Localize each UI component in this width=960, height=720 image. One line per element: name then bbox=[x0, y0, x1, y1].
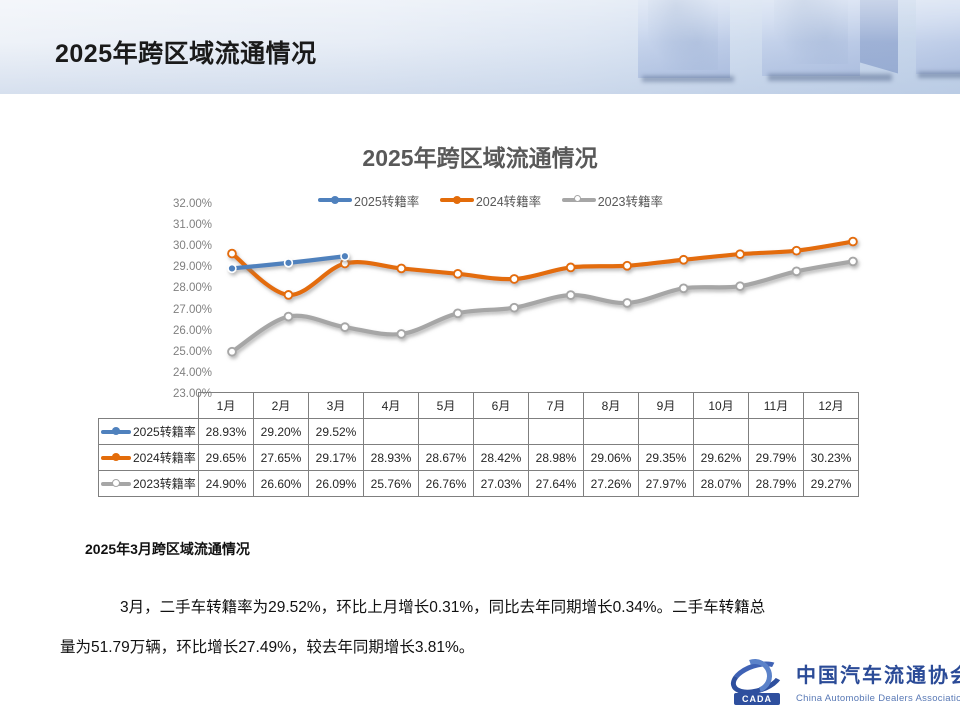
table-cell bbox=[529, 419, 584, 445]
table-header-row: 1月2月3月4月5月6月7月8月9月10月11月12月 bbox=[99, 393, 859, 419]
data-point-marker bbox=[397, 330, 405, 338]
table-col-header-5: 5月 bbox=[419, 393, 474, 419]
table-col-header-11: 11月 bbox=[749, 393, 804, 419]
table-cell: 26.60% bbox=[254, 471, 309, 497]
table-corner-cell bbox=[99, 393, 199, 419]
data-point-marker bbox=[623, 262, 631, 270]
table-cell: 28.67% bbox=[419, 445, 474, 471]
logo-name-en: China Automobile Dealers Association bbox=[796, 693, 960, 704]
table-cell bbox=[419, 419, 474, 445]
table-cell: 27.97% bbox=[639, 471, 694, 497]
table-cell: 29.06% bbox=[584, 445, 639, 471]
data-point-marker bbox=[228, 265, 236, 273]
table-col-header-8: 8月 bbox=[584, 393, 639, 419]
page-title: 2025年跨区域流通情况 bbox=[55, 34, 317, 70]
table-cell: 26.76% bbox=[419, 471, 474, 497]
logo-wordmark: 中国汽车流通协会 China Automobile Dealers Associ… bbox=[796, 659, 960, 706]
data-point-marker bbox=[567, 291, 575, 299]
data-point-marker bbox=[285, 291, 293, 299]
slide-page: 2025年跨区域流通情况 2025年跨区域流通情况 2025转籍率 2024转籍… bbox=[0, 0, 960, 720]
data-point-marker bbox=[228, 348, 236, 356]
chart-plot-area bbox=[0, 196, 960, 396]
data-point-marker bbox=[454, 309, 462, 317]
series-label: 2024转籍率 bbox=[133, 449, 196, 466]
table-cell: 28.93% bbox=[364, 445, 419, 471]
table-cell: 26.09% bbox=[309, 471, 364, 497]
table-col-header-12: 12月 bbox=[804, 393, 859, 419]
table-cell: 29.20% bbox=[254, 419, 309, 445]
slide-header-banner: 2025年跨区域流通情况 bbox=[0, 0, 960, 94]
data-point-marker bbox=[793, 247, 801, 255]
series-marker-icon bbox=[101, 452, 131, 463]
table-col-header-10: 10月 bbox=[694, 393, 749, 419]
data-point-marker bbox=[680, 256, 688, 264]
cada-emblem-icon: CADA bbox=[728, 657, 790, 707]
table-cell bbox=[639, 419, 694, 445]
table-row-header-2023转籍率: 2023转籍率 bbox=[99, 471, 199, 497]
table-cell bbox=[694, 419, 749, 445]
table-row-header-2025转籍率: 2025转籍率 bbox=[99, 419, 199, 445]
table-cell: 27.65% bbox=[254, 445, 309, 471]
table-cell: 29.62% bbox=[694, 445, 749, 471]
data-point-marker bbox=[567, 264, 575, 272]
table-row: 2024转籍率29.65%27.65%29.17%28.93%28.67%28.… bbox=[99, 445, 859, 471]
data-point-marker bbox=[623, 299, 631, 307]
table-cell bbox=[474, 419, 529, 445]
table-cell: 30.23% bbox=[804, 445, 859, 471]
table-cell: 29.79% bbox=[749, 445, 804, 471]
table-cell: 29.35% bbox=[639, 445, 694, 471]
data-point-marker bbox=[285, 313, 293, 321]
table-col-header-3: 3月 bbox=[309, 393, 364, 419]
chart-data-table: 1月2月3月4月5月6月7月8月9月10月11月12月 2025转籍率28.93… bbox=[98, 392, 859, 497]
data-point-marker bbox=[341, 252, 349, 260]
table-col-header-9: 9月 bbox=[639, 393, 694, 419]
data-point-marker bbox=[736, 282, 744, 290]
chart-svg bbox=[0, 196, 960, 396]
table-col-header-7: 7月 bbox=[529, 393, 584, 419]
table-cell: 27.03% bbox=[474, 471, 529, 497]
logo-name-cn: 中国汽车流通协会 bbox=[796, 665, 960, 687]
table-col-header-6: 6月 bbox=[474, 393, 529, 419]
table-cell: 27.64% bbox=[529, 471, 584, 497]
data-point-marker bbox=[849, 238, 857, 246]
chart-title: 2025年跨区域流通情况 bbox=[0, 139, 960, 173]
chart-series-2024转籍率 bbox=[228, 238, 857, 299]
series-label: 2023转籍率 bbox=[133, 475, 196, 492]
table-body: 2025转籍率28.93%29.20%29.52%2024转籍率29.65%27… bbox=[99, 419, 859, 497]
table-cell: 25.76% bbox=[364, 471, 419, 497]
data-point-marker bbox=[341, 323, 349, 331]
data-point-marker bbox=[680, 284, 688, 292]
table-row: 2025转籍率28.93%29.20%29.52% bbox=[99, 419, 859, 445]
table-col-header-1: 1月 bbox=[199, 393, 254, 419]
series-label: 2025转籍率 bbox=[133, 423, 196, 440]
table-cell: 24.90% bbox=[199, 471, 254, 497]
data-point-marker bbox=[397, 265, 405, 273]
data-point-marker bbox=[228, 250, 236, 258]
data-point-marker bbox=[454, 270, 462, 278]
table-col-header-2: 2月 bbox=[254, 393, 309, 419]
data-point-marker bbox=[510, 275, 518, 283]
table-cell: 28.98% bbox=[529, 445, 584, 471]
section-heading: 2025年3月跨区域流通情况 bbox=[85, 539, 250, 559]
cada-logo: CADA 中国汽车流通协会 China Automobile Dealers A… bbox=[728, 654, 950, 710]
table-cell: 29.27% bbox=[804, 471, 859, 497]
table-cell bbox=[749, 419, 804, 445]
data-point-marker bbox=[510, 304, 518, 312]
table-cell bbox=[364, 419, 419, 445]
table-row: 2023转籍率24.90%26.60%26.09%25.76%26.76%27.… bbox=[99, 471, 859, 497]
table-cell: 29.17% bbox=[309, 445, 364, 471]
data-point-marker bbox=[285, 259, 293, 267]
table-cell: 29.52% bbox=[309, 419, 364, 445]
table-row-header-2024转籍率: 2024转籍率 bbox=[99, 445, 199, 471]
paragraph-line-1: 3月，二手车转籍率为29.52%，环比上月增长0.31%，同比去年同期增长0.3… bbox=[60, 588, 900, 628]
table-cell bbox=[584, 419, 639, 445]
table-cell: 27.26% bbox=[584, 471, 639, 497]
table-col-header-4: 4月 bbox=[364, 393, 419, 419]
series-marker-icon bbox=[101, 478, 131, 489]
data-point-marker bbox=[849, 258, 857, 266]
table-cell: 28.79% bbox=[749, 471, 804, 497]
series-marker-icon bbox=[101, 426, 131, 437]
table-cell: 28.07% bbox=[694, 471, 749, 497]
data-point-marker bbox=[793, 267, 801, 275]
table-cell: 29.65% bbox=[199, 445, 254, 471]
cada-mark-text: CADA bbox=[734, 693, 780, 705]
data-point-marker bbox=[736, 250, 744, 258]
table-cell bbox=[804, 419, 859, 445]
table-cell: 28.42% bbox=[474, 445, 529, 471]
series-line bbox=[232, 242, 853, 295]
table-cell: 28.93% bbox=[199, 419, 254, 445]
